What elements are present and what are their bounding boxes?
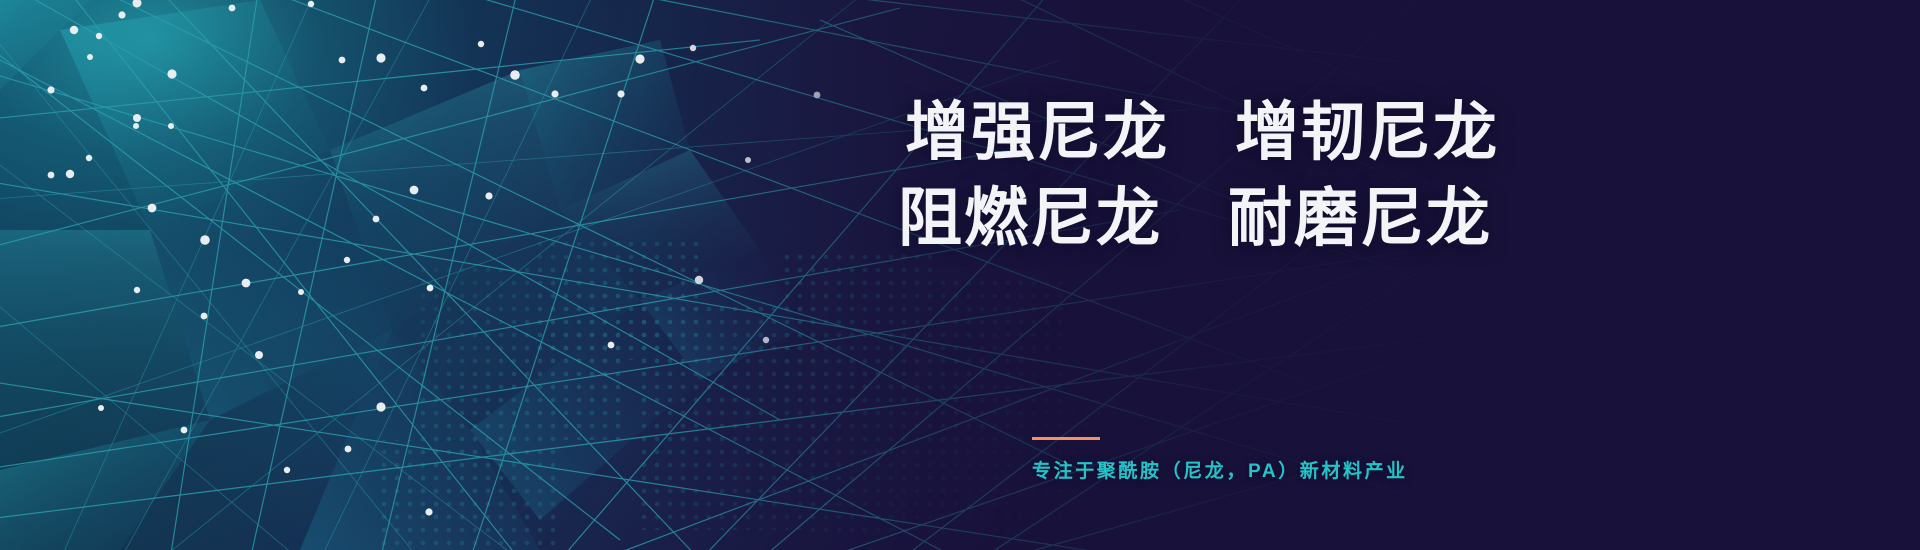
headline-line-2: 阻燃尼龙 耐磨尼龙 — [898, 186, 1492, 250]
headline-line-1: 增强尼龙 增韧尼龙 — [905, 100, 1499, 164]
orange-divider-rule — [1032, 437, 1100, 440]
banner-subtitle: 专注于聚酰胺（尼龙，PA）新材料产业 — [1032, 456, 1408, 483]
network-node-dots — [0, 0, 1920, 550]
hero-banner: 增强尼龙 增韧尼龙 阻燃尼龙 耐磨尼龙 专注于聚酰胺（尼龙，PA）新材料产业 — [0, 0, 1920, 550]
